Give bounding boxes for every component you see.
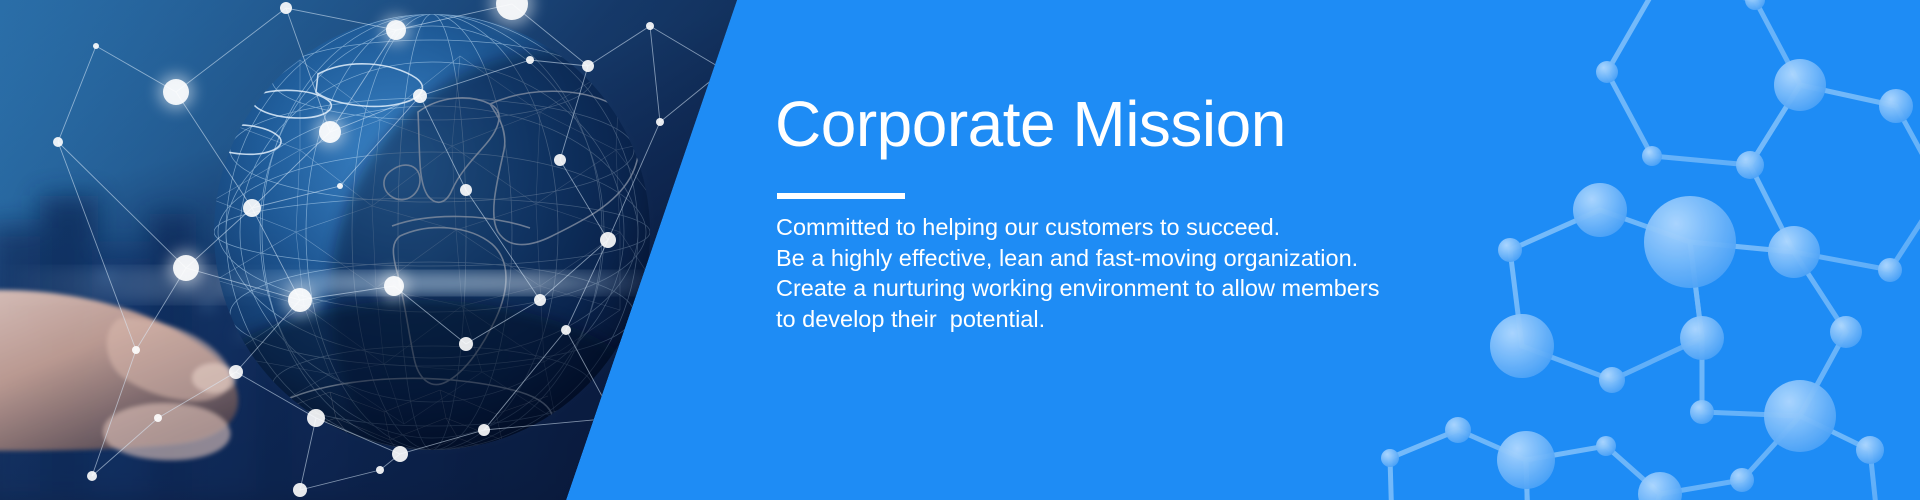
title-divider xyxy=(777,193,905,199)
mission-line: to develop their potential. xyxy=(776,304,1416,335)
mission-line: Be a highly effective, lean and fast-mov… xyxy=(776,243,1416,274)
mission-line: Committed to helping our customers to su… xyxy=(776,212,1416,243)
mission-statement: Committed to helping our customers to su… xyxy=(776,212,1416,334)
mission-line: Create a nurturing working environment t… xyxy=(776,273,1416,304)
page-title: Corporate Mission xyxy=(775,92,1286,156)
banner-content: Corporate Mission Committed to helping o… xyxy=(775,0,1475,500)
corporate-mission-banner: Corporate Mission Committed to helping o… xyxy=(0,0,1920,500)
